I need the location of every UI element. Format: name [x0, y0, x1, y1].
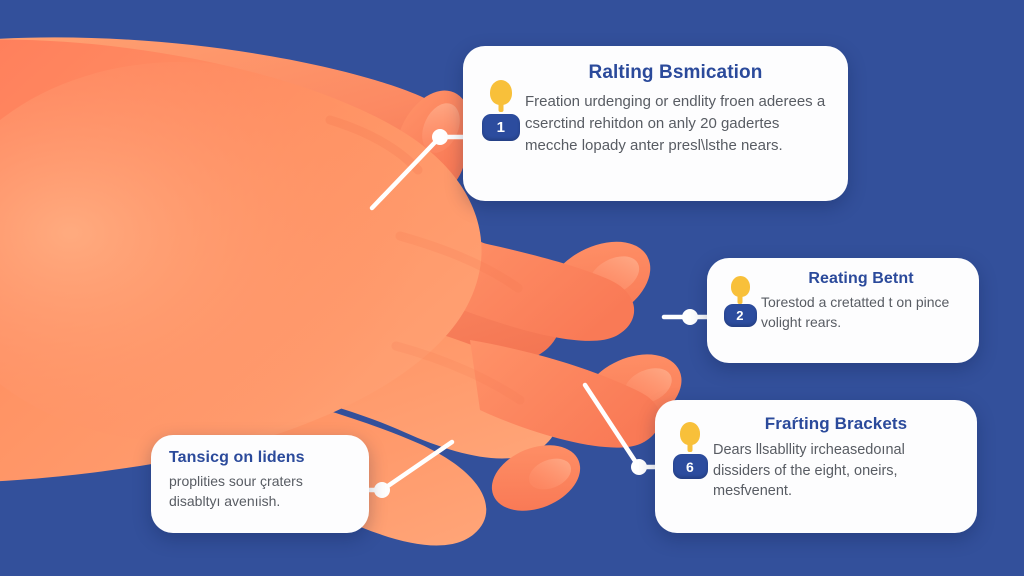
card-3-title: Fraŕting Brackets	[713, 414, 959, 434]
card-1-title: Ralting Bsmication	[525, 62, 826, 84]
card-3-body: Fraŕting Brackets Dears llsabllity irche…	[713, 414, 959, 502]
card-1-body: Ralting Bsmication Freation urdenging or…	[525, 62, 826, 156]
card-1-text: Freation urdenging or endlity froen ader…	[525, 91, 826, 156]
card-4-title: Tansicg on lidens	[169, 449, 351, 467]
connector-card-2-dot	[682, 309, 698, 325]
lightbulb-icon	[490, 80, 512, 105]
card-2-marker: 2	[719, 270, 761, 327]
card-3-badge: 6	[673, 454, 708, 479]
callout-card-3[interactable]: 6 Fraŕting Brackets Dears llsabllity irc…	[655, 400, 977, 533]
card-1-marker: 1	[477, 62, 525, 141]
callout-card-4[interactable]: Tansicg on lidens proplities sour çrater…	[151, 435, 369, 533]
card-1-badge: 1	[482, 114, 520, 141]
infographic-canvas: 1 Ralting Bsmication Freation urdenging …	[0, 0, 1024, 576]
lightbulb-icon	[731, 276, 750, 297]
connector-card-3-dot	[631, 459, 647, 475]
connector-card-4-dot	[374, 482, 390, 498]
card-3-text: Dears llsabllity ircheasedoınal dissider…	[713, 440, 959, 502]
card-2-badge: 2	[724, 304, 757, 327]
card-2-body: Reating Betnt Torestod a cretatted t on …	[761, 270, 961, 332]
card-2-title: Reating Betnt	[761, 270, 961, 288]
connector-card-1-line	[372, 137, 466, 208]
callout-card-2[interactable]: 2 Reating Betnt Torestod a cretatted t o…	[707, 258, 979, 363]
lightbulb-icon	[680, 422, 700, 445]
connector-card-1-dot	[432, 129, 448, 145]
card-4-body: Tansicg on lidens proplities sour çrater…	[169, 449, 351, 511]
card-2-text: Torestod a cretatted t on pince volight …	[761, 293, 961, 332]
card-4-text: proplities sour çraters disabltyı avenıi…	[169, 472, 351, 511]
connector-card-3-line	[585, 385, 657, 467]
card-3-marker: 6	[667, 414, 713, 479]
callout-card-1[interactable]: 1 Ralting Bsmication Freation urdenging …	[463, 46, 848, 201]
